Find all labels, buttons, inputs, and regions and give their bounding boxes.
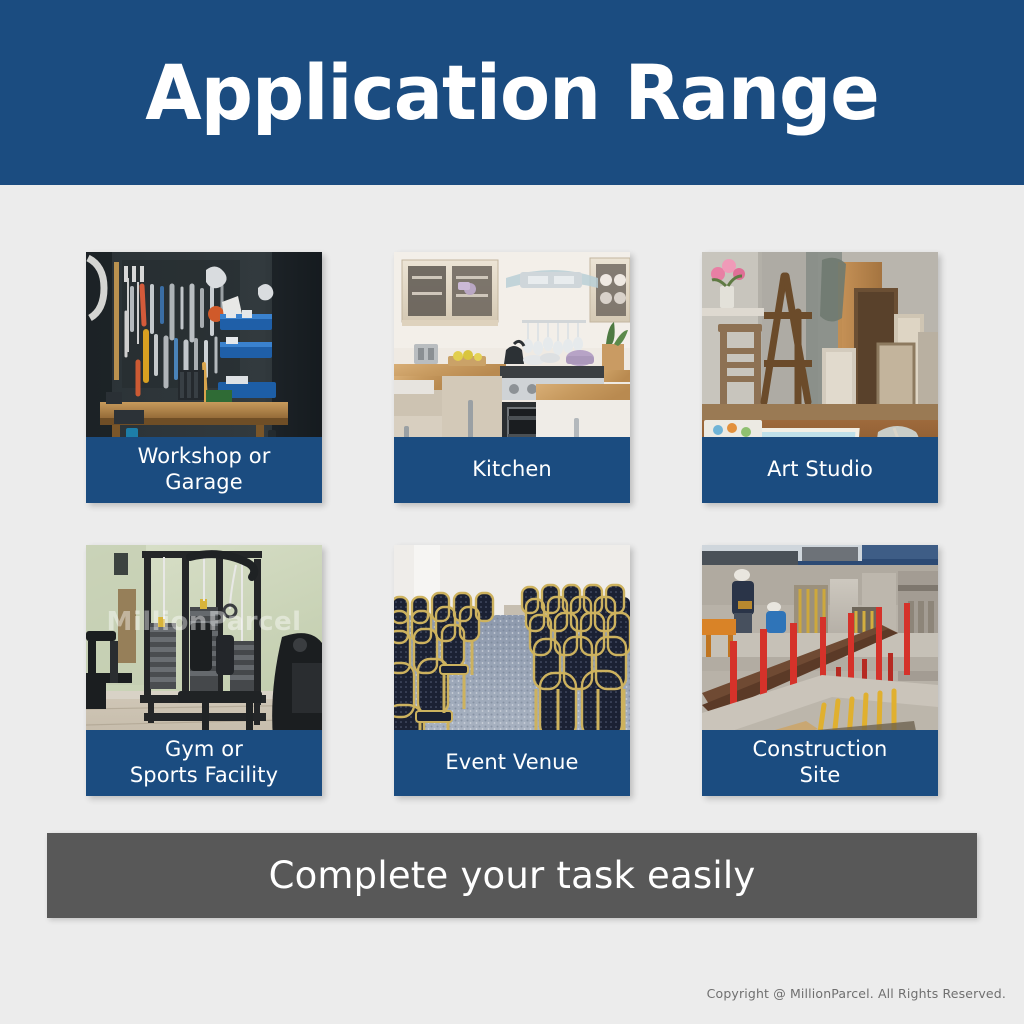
card-label-text: Kitchen xyxy=(468,457,556,483)
card-label-text: Construction Site xyxy=(749,737,892,788)
tagline-banner: Complete your task easily xyxy=(47,833,977,918)
application-card-event-venue[interactable]: Event Venue xyxy=(394,545,630,796)
application-card-construction-site[interactable]: Construction Site xyxy=(702,545,938,796)
application-card-grid: Workshop or Garage xyxy=(86,252,938,796)
application-card-art-studio[interactable]: Art Studio xyxy=(702,252,938,503)
copyright-text: Copyright @ MillionParcel. All Rights Re… xyxy=(707,986,1006,1001)
card-label-text: Workshop or Garage xyxy=(134,444,275,495)
application-card-kitchen[interactable]: Kitchen xyxy=(394,252,630,503)
card-label-text: Art Studio xyxy=(763,457,877,483)
card-label-workshop: Workshop or Garage xyxy=(86,437,322,503)
card-label-construction-site: Construction Site xyxy=(702,730,938,796)
card-label-event-venue: Event Venue xyxy=(394,730,630,796)
header-banner: Application Range xyxy=(0,0,1024,185)
card-label-kitchen: Kitchen xyxy=(394,437,630,503)
card-label-text: Gym or Sports Facility xyxy=(126,737,282,788)
page-title: Application Range xyxy=(145,55,879,131)
application-card-workshop[interactable]: Workshop or Garage xyxy=(86,252,322,503)
card-label-gym: Gym or Sports Facility xyxy=(86,730,322,796)
infographic-page: Application Range xyxy=(0,0,1024,1024)
card-label-text: Event Venue xyxy=(441,750,582,776)
card-label-art-studio: Art Studio xyxy=(702,437,938,503)
application-card-gym[interactable]: MillionParcel Gym or Sports Facility xyxy=(86,545,322,796)
tagline-text: Complete your task easily xyxy=(269,854,756,897)
